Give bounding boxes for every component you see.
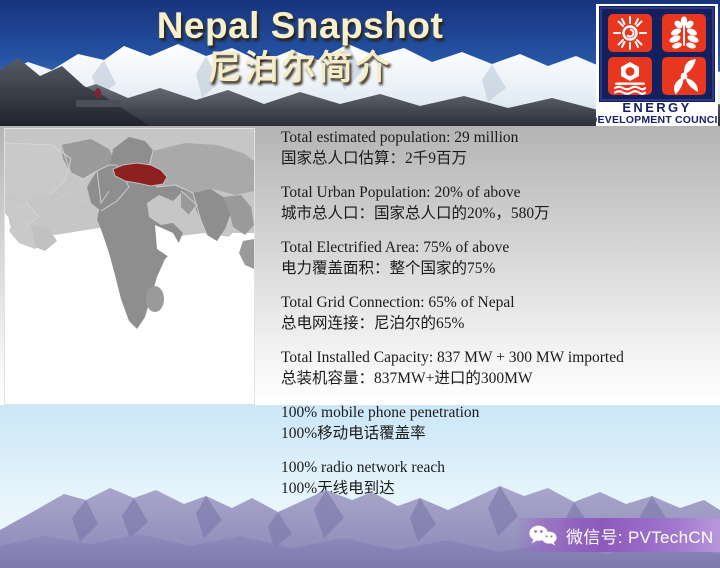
logo-name-line2: DEVELOPMENT COUNCIL (596, 114, 718, 126)
logo-name-line1: ENERGY (622, 100, 691, 115)
fact-english: Total Electrified Area: 75% of above (281, 238, 711, 258)
fact-chinese: 城市总人口：国家总人口的20%，580万 (281, 203, 711, 224)
fact-item-population: Total estimated population: 29 million 国… (281, 128, 711, 169)
fact-english: Total Installed Capacity: 837 MW + 300 M… (281, 348, 711, 368)
fact-chinese: 总装机容量：837MW+进口的300MW (281, 368, 711, 389)
fact-english: 100% mobile phone penetration (281, 403, 711, 423)
fact-item-installed-capacity: Total Installed Capacity: 837 MW + 300 M… (281, 348, 711, 389)
energy-development-council-logo: ENERGY DEVELOPMENT COUNCIL (596, 4, 718, 126)
watermark-text: 微信号: PVTechCN (566, 523, 714, 548)
slide-nepal-snapshot: Nepal Snapshot 尼泊尔简介 (0, 0, 720, 568)
fact-item-electrified-area: Total Electrified Area: 75% of above 电力覆… (281, 238, 711, 279)
fact-english: Total Grid Connection: 65% of Nepal (281, 293, 711, 313)
wechat-icon (528, 524, 558, 546)
fact-item-grid-connection: Total Grid Connection: 65% of Nepal 总电网连… (281, 293, 711, 334)
fact-chinese: 电力覆盖面积：整个国家的75% (281, 258, 711, 279)
south-asia-map (4, 128, 255, 405)
fact-item-urban-population: Total Urban Population: 20% of above 城市总… (281, 183, 711, 224)
fact-english: Total Urban Population: 20% of above (281, 183, 711, 203)
fact-chinese: 国家总人口估算：2千9百万 (281, 148, 711, 169)
edc-logo-graphic: ENERGY DEVELOPMENT COUNCIL (596, 4, 718, 126)
wechat-watermark: 微信号: PVTechCN (516, 518, 720, 552)
fact-english: Total estimated population: 29 million (281, 128, 711, 148)
fact-chinese: 总电网连接：尼泊尔的65% (281, 313, 711, 334)
map-graphic (5, 129, 254, 404)
